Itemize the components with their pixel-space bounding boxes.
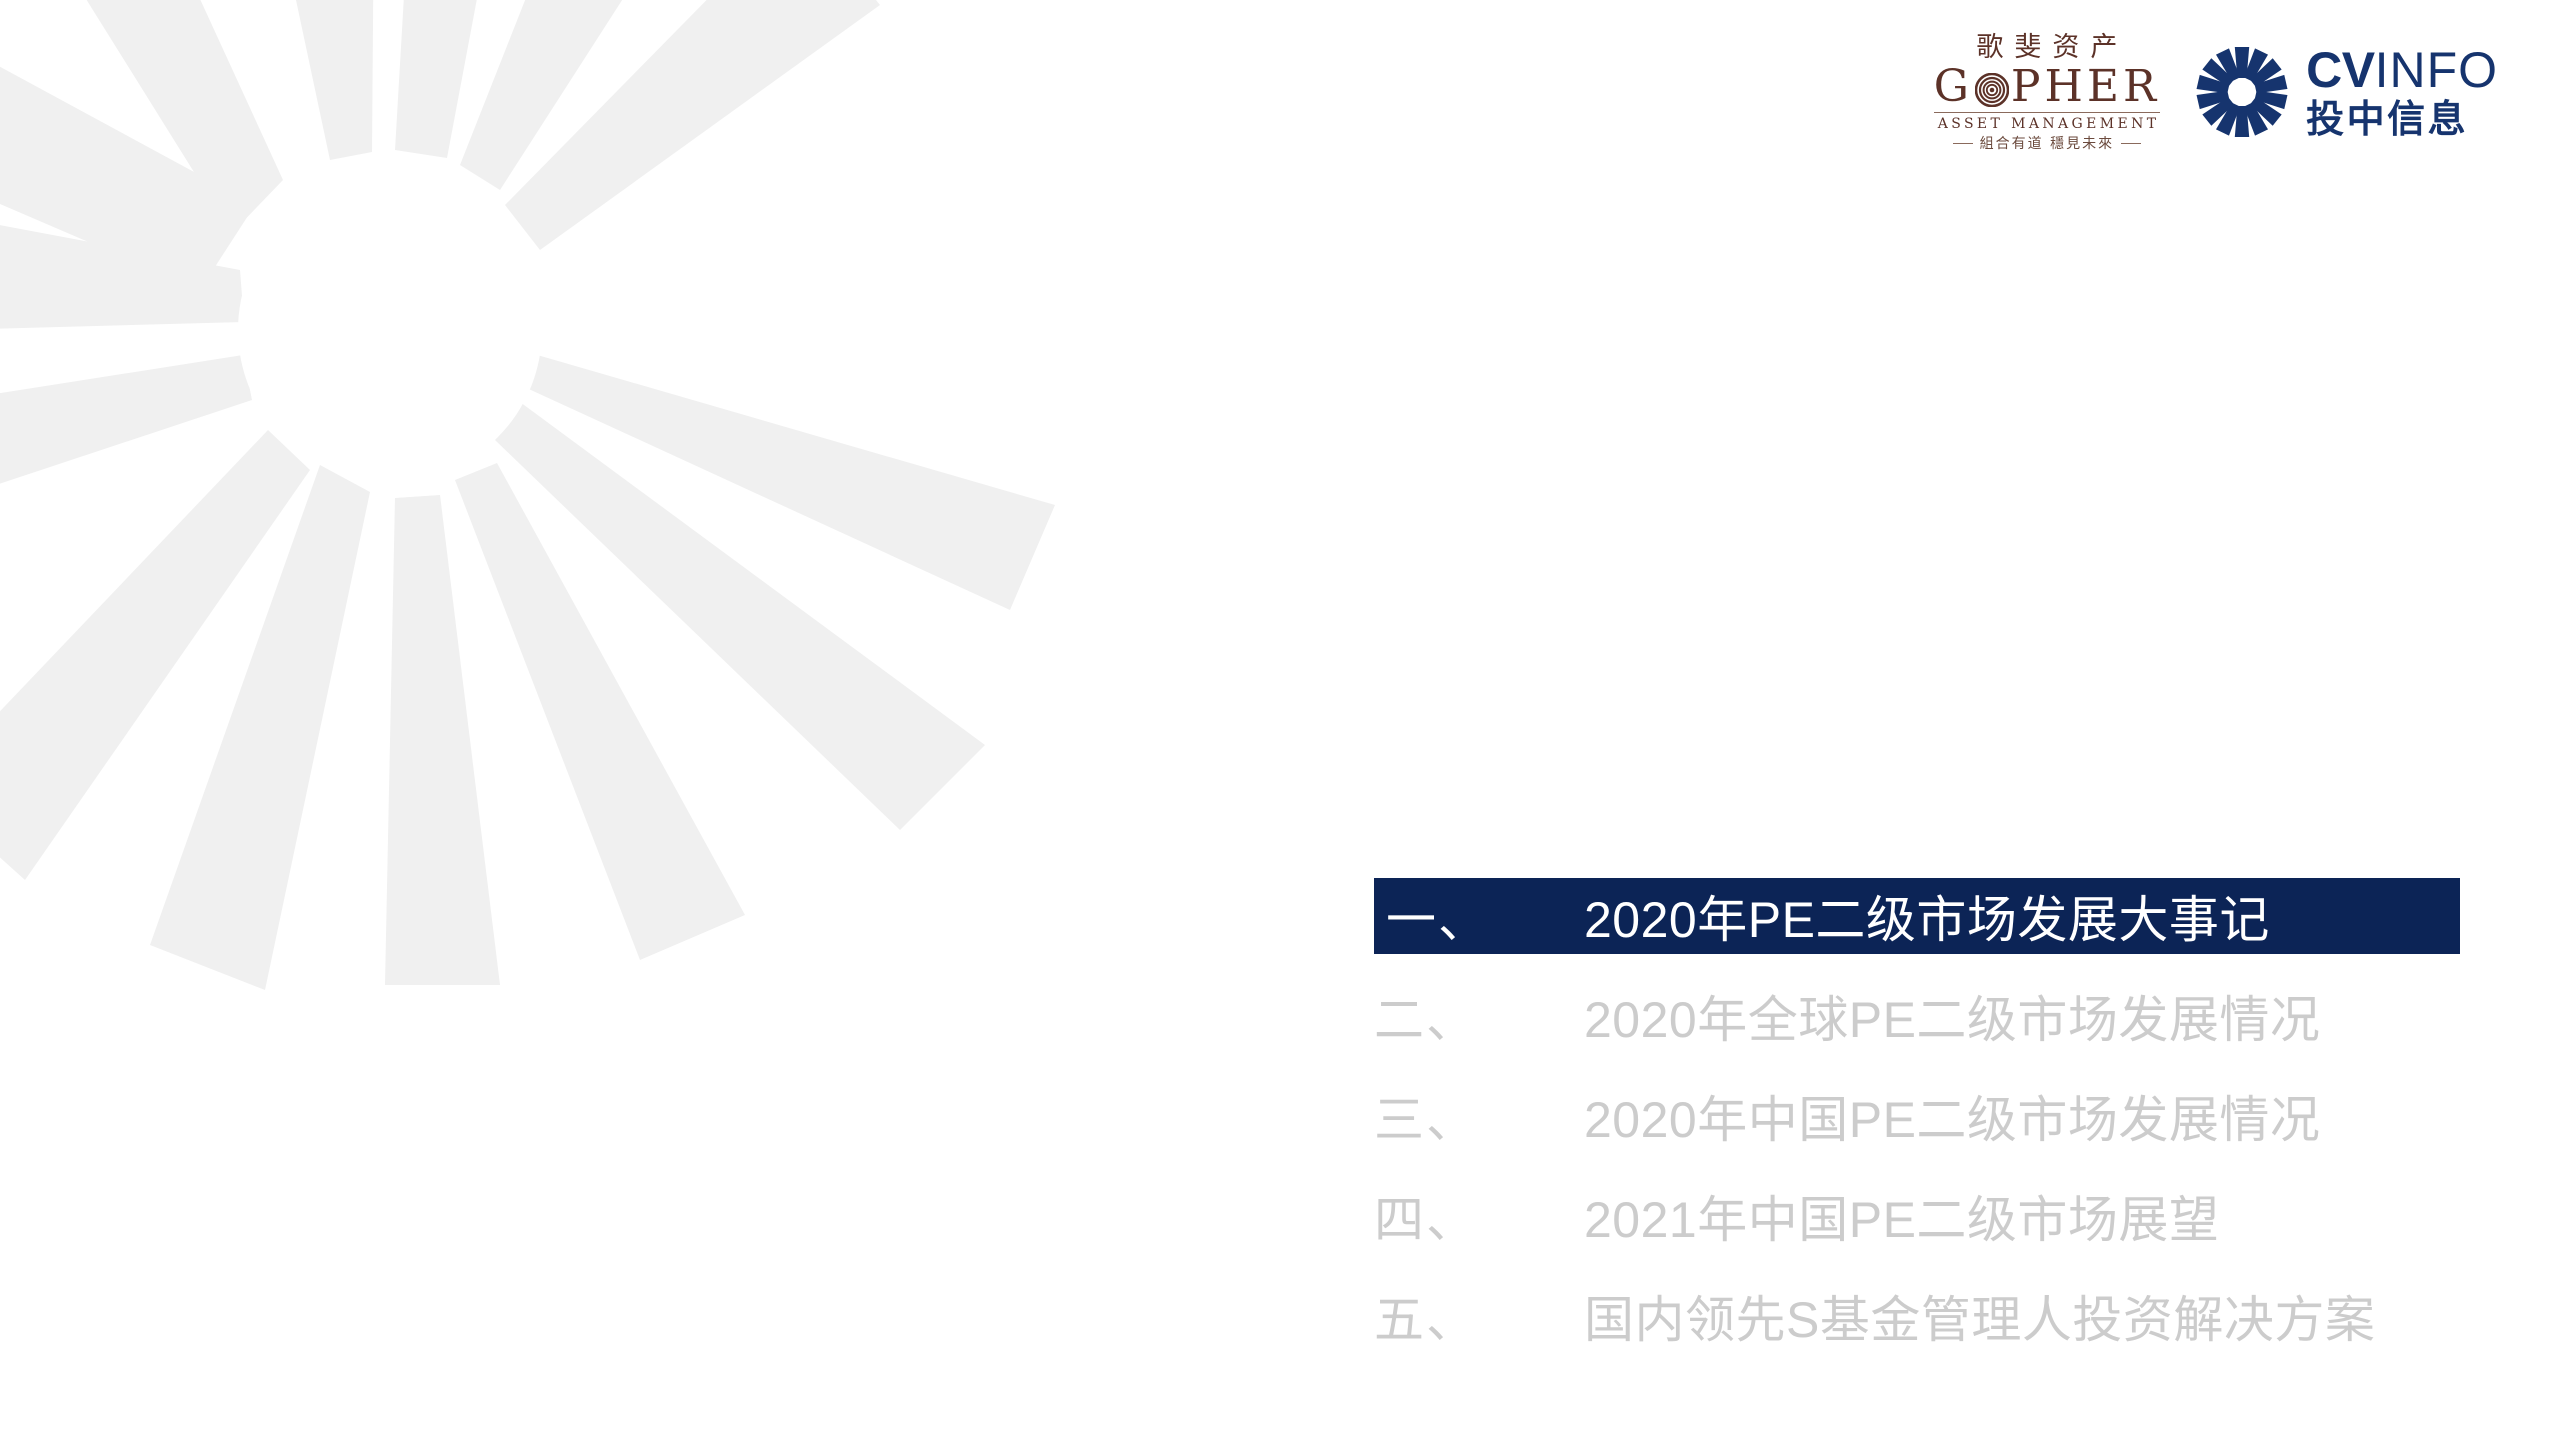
gopher-wordmark-before: G: [1934, 65, 1973, 110]
slide-canvas: 歌斐资产 GPHER ASSET MANAGEMENT 組合有道 穩見未來: [0, 0, 2560, 1440]
gopher-divider: [1934, 112, 2160, 113]
starburst-icon: [2194, 44, 2290, 140]
gopher-chinese-name: 歌斐资产: [1965, 34, 2128, 61]
gopher-subtitle: ASSET MANAGEMENT: [1934, 117, 2159, 131]
agenda-item-3-number: 三、: [1374, 1080, 1584, 1152]
agenda-item-2[interactable]: 二、 2020年全球PE二级市场发展情况: [1374, 978, 2534, 1054]
gopher-wordmark: GPHER: [1934, 65, 2160, 110]
agenda-item-1[interactable]: 一、 2020年PE二级市场发展大事记: [1374, 878, 2460, 954]
tagline-dash-left: [1953, 143, 1973, 144]
agenda-item-4-label: 2021年中国PE二级市场展望: [1584, 1180, 2219, 1252]
agenda-item-3[interactable]: 三、 2020年中国PE二级市场发展情况: [1374, 1078, 2534, 1154]
agenda-list: 一、 2020年PE二级市场发展大事记 二、 2020年全球PE二级市场发展情况…: [1374, 878, 2534, 1354]
sunburst-watermark: [0, 0, 1100, 1020]
tagline-dash-right: [2121, 143, 2141, 144]
agenda-item-3-label: 2020年中国PE二级市场发展情况: [1584, 1080, 2320, 1152]
gopher-asset-management-logo: 歌斐资产 GPHER ASSET MANAGEMENT 組合有道 穩見未來: [1934, 34, 2160, 151]
cvinfo-chinese: 投中信息: [2306, 101, 2498, 139]
cvinfo-text: CVINFO 投中信息: [2306, 45, 2498, 139]
agenda-item-2-label: 2020年全球PE二级市场发展情况: [1584, 980, 2320, 1052]
gopher-tagline: 組合有道 穩見未來: [1953, 137, 2141, 151]
agenda-item-1-label: 2020年PE二级市场发展大事记: [1584, 880, 2270, 952]
cvinfo-english-light: INFO: [2375, 42, 2498, 98]
agenda-item-2-number: 二、: [1374, 980, 1584, 1052]
agenda-item-4-number: 四、: [1374, 1180, 1584, 1252]
agenda-item-5[interactable]: 五、 国内领先S基金管理人投资解决方案: [1374, 1278, 2534, 1354]
agenda-item-4[interactable]: 四、 2021年中国PE二级市场展望: [1374, 1178, 2534, 1254]
cvinfo-english: CVINFO: [2306, 45, 2498, 95]
agenda-item-5-number: 五、: [1374, 1280, 1584, 1352]
cvinfo-english-bold: CV: [2306, 42, 2374, 98]
gopher-tagline-text: 組合有道 穩見未來: [1980, 137, 2114, 151]
agenda-item-5-label: 国内领先S基金管理人投资解决方案: [1584, 1280, 2375, 1352]
gopher-wordmark-after: PHER: [2011, 65, 2160, 110]
cvinfo-logo: CVINFO 投中信息: [2194, 44, 2498, 140]
agenda-item-1-number: 一、: [1386, 880, 1584, 952]
logo-row: 歌斐资产 GPHER ASSET MANAGEMENT 組合有道 穩見未來: [1934, 34, 2498, 151]
tree-ring-icon: [1975, 73, 2009, 107]
